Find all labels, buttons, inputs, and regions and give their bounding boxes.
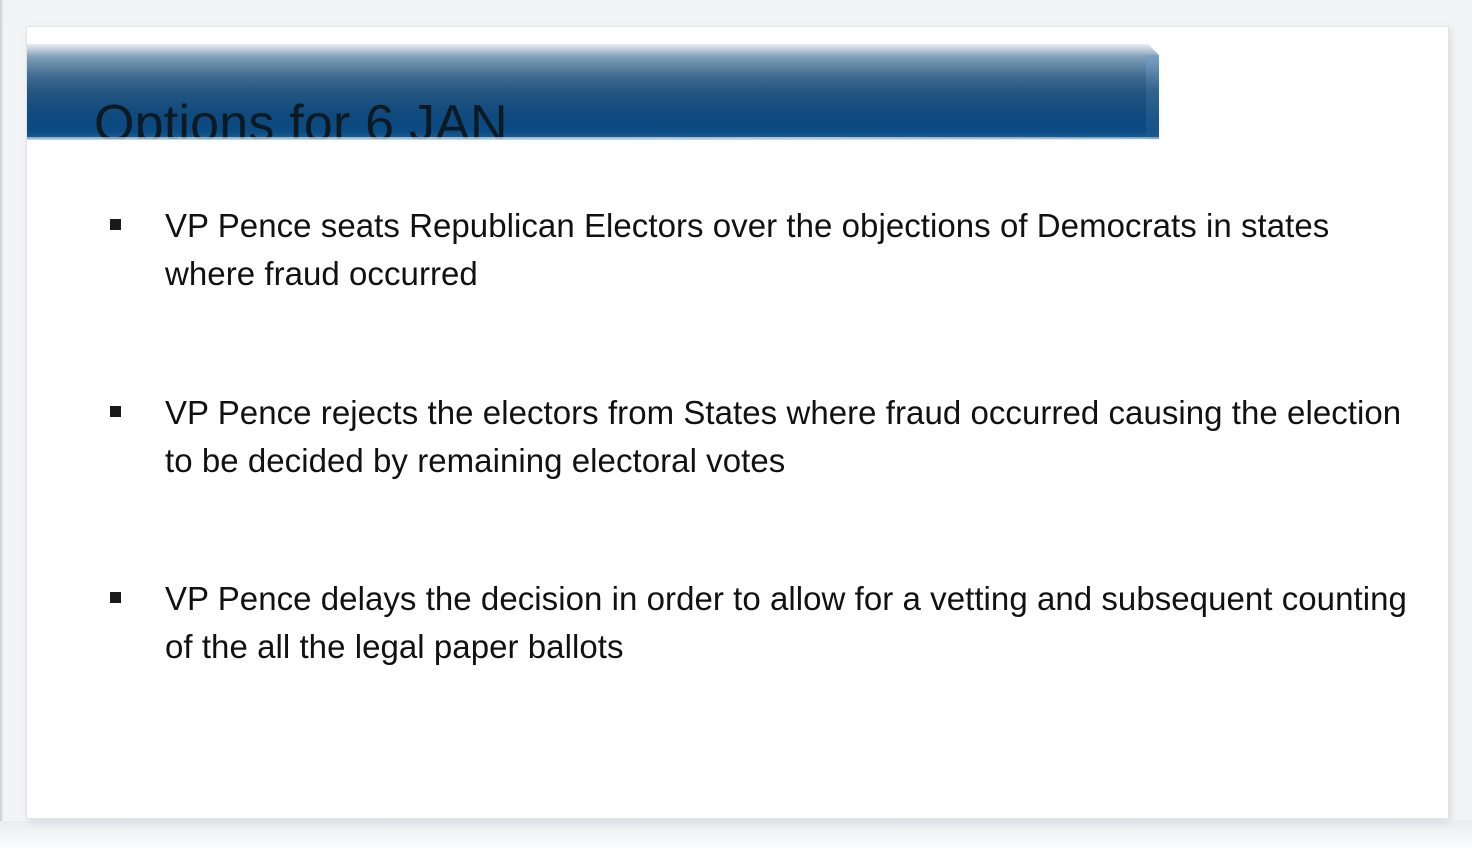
viewer-right-margin [1448, 0, 1472, 851]
slide-title-banner: Options for 6 JAN [27, 44, 1159, 139]
list-item-text: VP Pence rejects the electors from State… [165, 389, 1415, 485]
square-bullet-icon [110, 592, 121, 603]
slide-title-banner-underline [27, 137, 1159, 140]
viewer-left-edge-rule [0, 0, 3, 851]
viewer-bottom-margin [0, 821, 1472, 851]
viewer-top-margin [0, 0, 1472, 24]
square-bullet-icon [110, 219, 121, 230]
slide-viewer: Options for 6 JAN VP Pence seats Republi… [0, 0, 1472, 851]
square-bullet-icon [110, 406, 121, 417]
slide-title: Options for 6 JAN [94, 98, 508, 150]
presentation-slide: Options for 6 JAN VP Pence seats Republi… [27, 27, 1448, 818]
list-item-text: VP Pence seats Republican Electors over … [165, 202, 1415, 298]
list-item-text: VP Pence delays the decision in order to… [165, 575, 1415, 671]
